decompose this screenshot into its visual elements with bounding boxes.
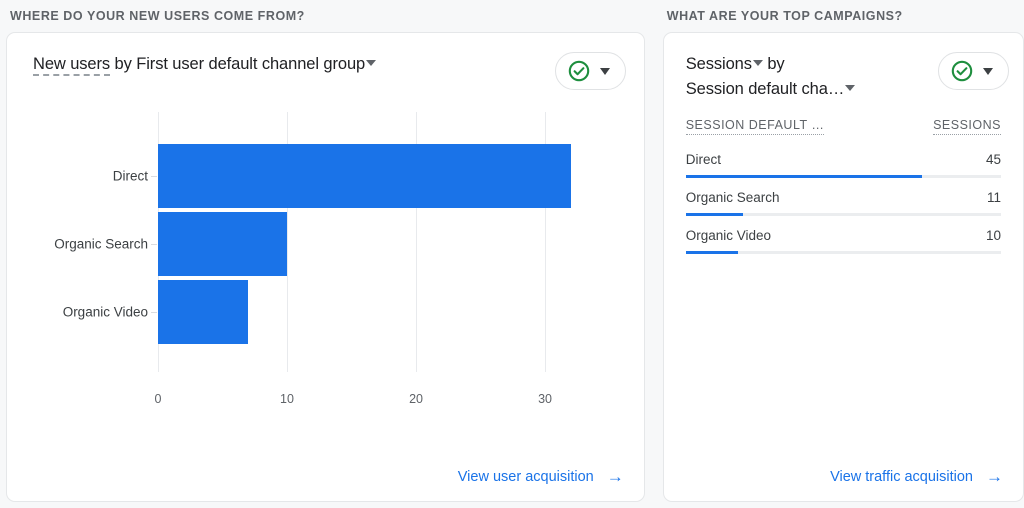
column-header-dimension[interactable]: SESSION DEFAULT …	[686, 118, 825, 135]
green-check-circle-icon	[567, 59, 591, 83]
bar-category-label: Organic Search	[54, 237, 148, 252]
table-row-top: Direct 45	[686, 152, 1001, 175]
row-bar-track	[686, 175, 1001, 178]
view-traffic-acquisition-link[interactable]: View traffic acquisition →	[830, 468, 1003, 485]
row-bar-track	[686, 251, 1001, 254]
bar-organic-video[interactable]	[158, 280, 248, 344]
right-section-title: WHAT ARE YOUR TOP CAMPAIGNS?	[663, 0, 1024, 32]
bar-row[interactable]: Direct	[158, 144, 571, 208]
bar-direct[interactable]	[158, 144, 571, 208]
arrow-right-icon: →	[986, 468, 1003, 485]
category-tick	[151, 312, 157, 313]
table-header-row: SESSION DEFAULT … SESSIONS	[686, 118, 1001, 140]
right-status-dropdown-button[interactable]	[938, 52, 1009, 90]
title-connector: by	[767, 55, 784, 73]
view-user-acquisition-link[interactable]: View user acquisition →	[458, 468, 624, 485]
dimension-selector-label[interactable]: First user default channel group	[136, 55, 365, 73]
chevron-down-icon[interactable]	[845, 85, 855, 91]
row-bar-track	[686, 213, 1001, 216]
row-bar-fill	[686, 213, 744, 216]
bar-category-label: Direct	[113, 169, 148, 184]
chevron-down-icon[interactable]	[366, 60, 376, 66]
row-bar-fill	[686, 175, 922, 178]
top-campaigns-panel: WHAT ARE YOUR TOP CAMPAIGNS? Sessions by…	[663, 0, 1024, 508]
chevron-down-icon[interactable]	[600, 68, 610, 75]
dashboard-page: WHERE DO YOUR NEW USERS COME FROM? New u…	[0, 0, 1024, 508]
table-row-top: Organic Video 10	[686, 228, 1001, 251]
table-row[interactable]: Direct 45	[686, 140, 1001, 178]
title-connector: by	[110, 55, 136, 73]
view-traffic-acquisition-label: View traffic acquisition	[830, 469, 973, 485]
category-tick	[151, 244, 157, 245]
right-card-header: Sessions by Session default cha…	[664, 33, 1023, 102]
green-check-circle-icon	[950, 59, 974, 83]
table-row[interactable]: Organic Search 11	[686, 178, 1001, 216]
right-card-title: Sessions by Session default cha…	[686, 52, 856, 102]
row-label[interactable]: Organic Search	[686, 190, 780, 205]
metric-selector-sessions[interactable]: Sessions	[686, 55, 752, 73]
chevron-down-icon[interactable]	[983, 68, 993, 75]
bar-row[interactable]: Organic Search	[158, 212, 287, 276]
left-status-dropdown-button[interactable]	[555, 52, 626, 90]
left-card-header: New users by First user default channel …	[7, 33, 644, 90]
campaigns-table: SESSION DEFAULT … SESSIONS Direct 45 Org…	[664, 102, 1023, 254]
row-label[interactable]: Organic Video	[686, 228, 771, 243]
table-row-top: Organic Search 11	[686, 190, 1001, 213]
sessions-card: Sessions by Session default cha…	[663, 32, 1024, 502]
left-card-title: New users by First user default channel …	[33, 52, 376, 76]
row-value: 11	[987, 190, 1001, 205]
new-users-card: New users by First user default channel …	[6, 32, 645, 502]
user-acquisition-panel: WHERE DO YOUR NEW USERS COME FROM? New u…	[6, 0, 645, 508]
bar-row[interactable]: Organic Video	[158, 280, 248, 344]
new-users-bar-chart: 0 10 20 30 Direct Organic Search	[7, 112, 644, 412]
arrow-right-icon: →	[607, 468, 624, 485]
row-bar-fill	[686, 251, 739, 254]
table-row[interactable]: Organic Video 10	[686, 216, 1001, 254]
row-label[interactable]: Direct	[686, 152, 721, 167]
row-value: 10	[986, 228, 1001, 243]
category-tick	[151, 176, 157, 177]
bar-category-label: Organic Video	[63, 305, 148, 320]
x-tick-label: 30	[538, 392, 552, 406]
left-section-title: WHERE DO YOUR NEW USERS COME FROM?	[6, 0, 645, 32]
metric-selector-new-users[interactable]: New users	[33, 55, 110, 76]
chart-plot-area: 0 10 20 30 Direct Organic Search	[158, 112, 584, 372]
x-tick-label: 20	[409, 392, 423, 406]
x-tick-label: 10	[280, 392, 294, 406]
bar-organic-search[interactable]	[158, 212, 287, 276]
row-value: 45	[986, 152, 1001, 167]
column-header-metric[interactable]: SESSIONS	[933, 118, 1001, 135]
chevron-down-icon[interactable]	[753, 60, 763, 66]
view-user-acquisition-label: View user acquisition	[458, 469, 594, 485]
x-tick-label: 0	[155, 392, 162, 406]
dimension-selector-session-channel[interactable]: Session default cha…	[686, 80, 845, 98]
